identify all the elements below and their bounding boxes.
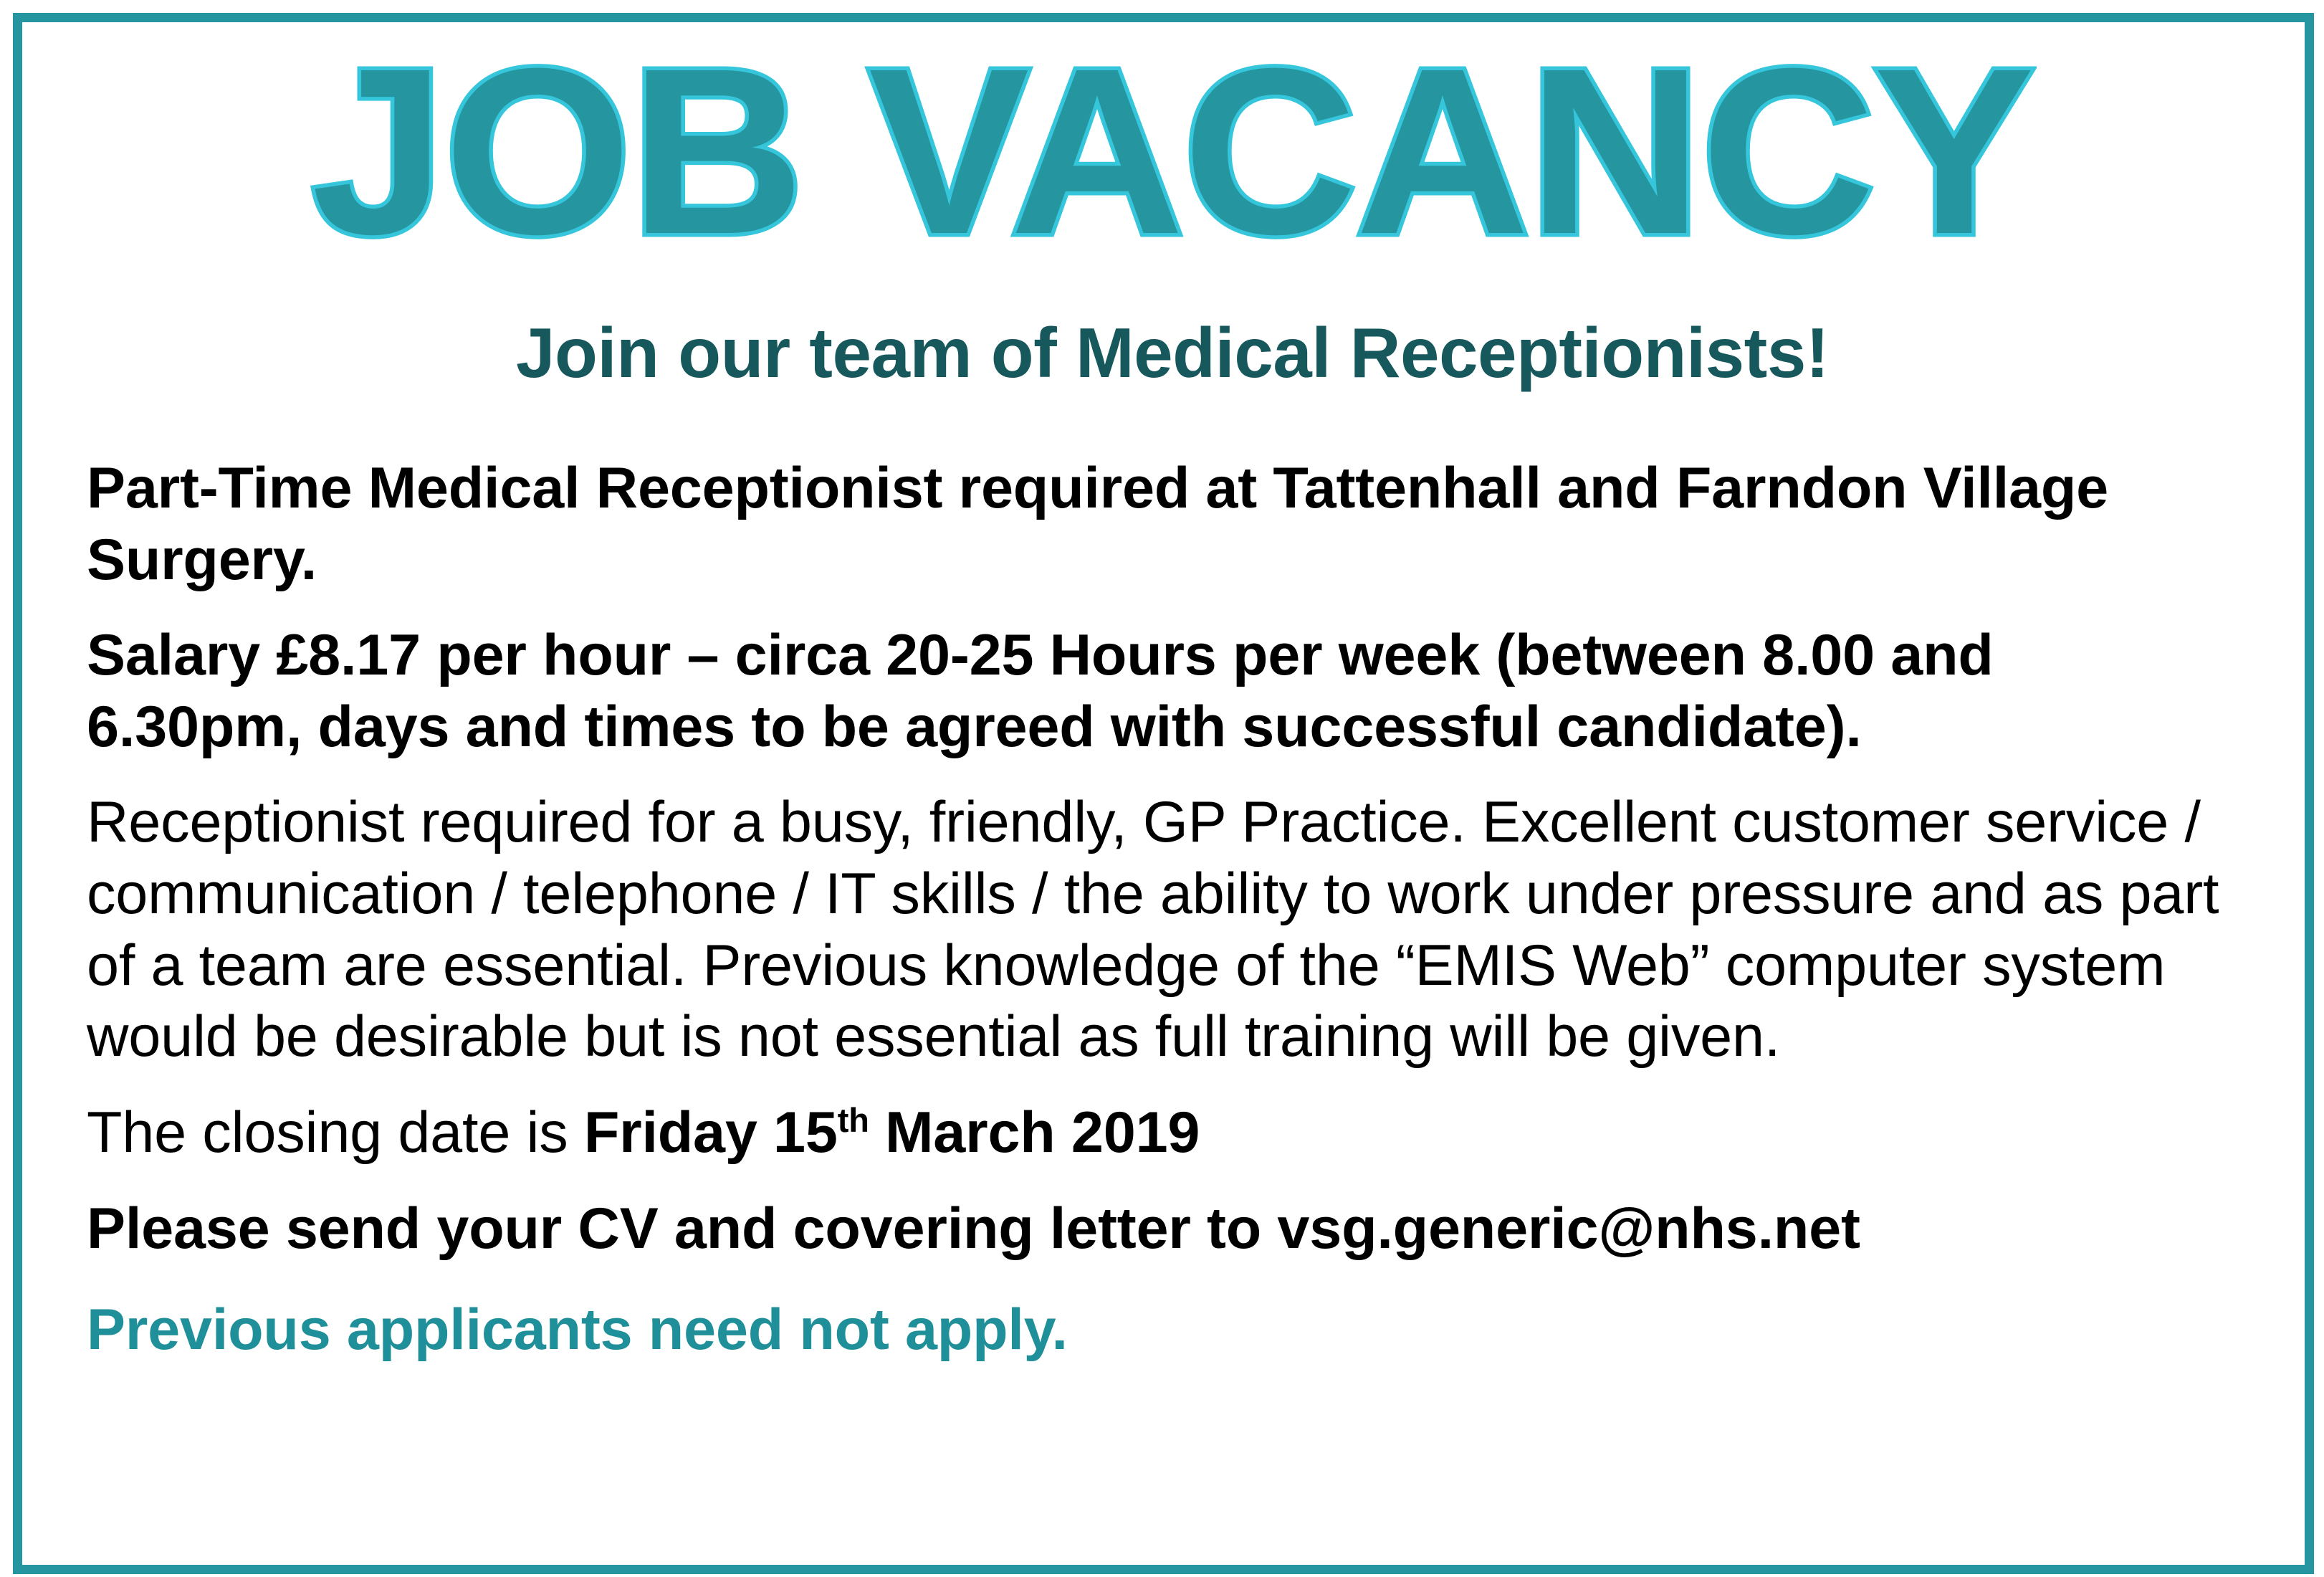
- job-vacancy-poster: JOB VACANCY Join our team of Medical Rec…: [0, 0, 2324, 1577]
- poster-inner-content: JOB VACANCY Join our team of Medical Rec…: [22, 22, 2305, 1565]
- previous-applicants-notice: Previous applicants need not apply.: [87, 1295, 2237, 1366]
- body-copy: Part-Time Medical Receptionist required …: [83, 453, 2262, 1366]
- closing-date-value: Friday 15: [584, 1100, 838, 1165]
- closing-date-ordinal: th: [838, 1101, 869, 1139]
- closing-date-prefix: The closing date is: [87, 1100, 584, 1165]
- subtitle: Join our team of Medical Receptionists!: [516, 316, 1829, 390]
- spacer: [87, 1289, 2262, 1295]
- headline-container: JOB VACANCY: [83, 22, 2262, 287]
- closing-date-paragraph: The closing date is Friday 15th March 20…: [87, 1097, 2237, 1169]
- intro-paragraph: Part-Time Medical Receptionist required …: [87, 453, 2237, 596]
- apply-instructions: Please send your CV and covering letter …: [87, 1194, 2237, 1265]
- poster-border-frame: JOB VACANCY Join our team of Medical Rec…: [13, 13, 2314, 1574]
- salary-paragraph: Salary £8.17 per hour – circa 20-25 Hour…: [87, 620, 2222, 763]
- closing-date-month-year: March 2019: [869, 1100, 1200, 1165]
- page-title: JOB VACANCY: [312, 35, 2034, 267]
- description-paragraph: Receptionist required for a busy, friend…: [87, 787, 2222, 1073]
- subtitle-container: Join our team of Medical Receptionists!: [83, 316, 2262, 390]
